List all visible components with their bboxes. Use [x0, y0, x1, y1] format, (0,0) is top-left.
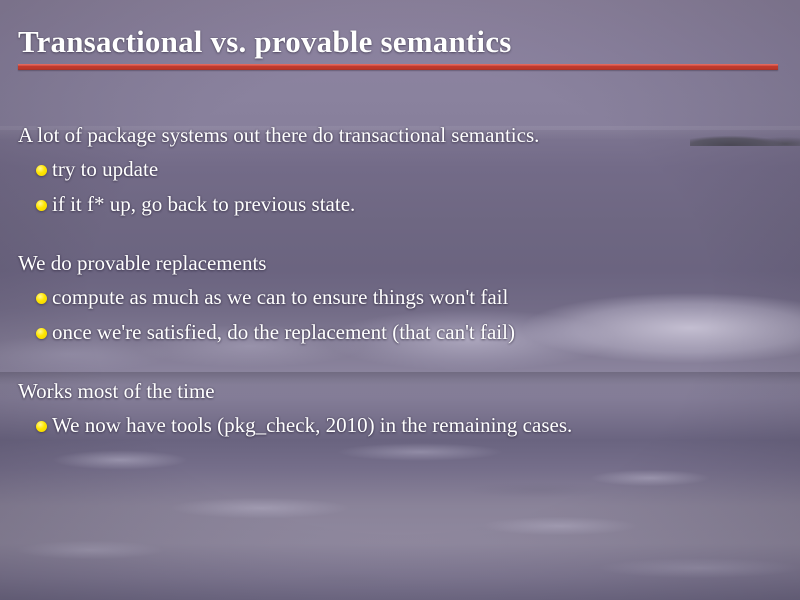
presentation-slide: Transactional vs. provable semantics A l…	[0, 0, 800, 600]
bullet-dot-icon	[36, 328, 47, 339]
content-group: A lot of package systems out there do tr…	[0, 118, 800, 222]
group-heading: We do provable replacements	[0, 246, 800, 280]
bullet-list: try to update if it f* up, go back to pr…	[0, 152, 800, 222]
bullet-list: We now have tools (pkg_check, 2010) in t…	[0, 408, 800, 443]
bullet-list: compute as much as we can to ensure thin…	[0, 280, 800, 350]
group-heading: A lot of package systems out there do tr…	[0, 118, 800, 152]
list-item: compute as much as we can to ensure thin…	[0, 280, 800, 315]
title-underline-rule	[18, 64, 778, 70]
bullet-dot-icon	[36, 421, 47, 432]
slide-title: Transactional vs. provable semantics	[18, 24, 511, 60]
list-item-label: compute as much as we can to ensure thin…	[52, 285, 508, 309]
bullet-dot-icon	[36, 165, 47, 176]
slide-body: A lot of package systems out there do tr…	[0, 118, 800, 443]
list-item: if it f* up, go back to previous state.	[0, 187, 800, 222]
group-heading: Works most of the time	[0, 374, 800, 408]
list-item: once we're satisfied, do the replacement…	[0, 315, 800, 350]
bullet-dot-icon	[36, 200, 47, 211]
list-item-label: once we're satisfied, do the replacement…	[52, 320, 515, 344]
list-item: We now have tools (pkg_check, 2010) in t…	[0, 408, 800, 443]
list-item-label: if it f* up, go back to previous state.	[52, 192, 355, 216]
list-item-label: try to update	[52, 157, 158, 181]
content-group: Works most of the time We now have tools…	[0, 374, 800, 443]
list-item-label: We now have tools (pkg_check, 2010) in t…	[52, 413, 572, 437]
bullet-dot-icon	[36, 293, 47, 304]
list-item: try to update	[0, 152, 800, 187]
content-group: We do provable replacements compute as m…	[0, 246, 800, 350]
